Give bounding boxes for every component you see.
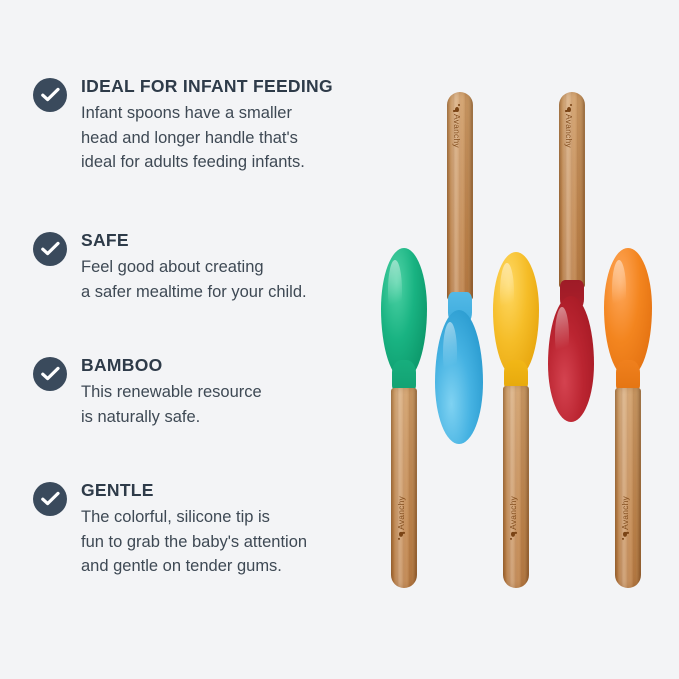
green-spoon-handle: [391, 388, 417, 588]
feature-text: IDEAL FOR INFANT FEEDING Infant spoons h…: [81, 76, 333, 175]
blue-spoon: Avanchy: [428, 92, 486, 444]
check-circle-icon: [33, 78, 67, 112]
feature-body-line: head and longer handle that's: [81, 126, 333, 151]
check-circle-icon: [33, 357, 67, 391]
feature-body-line: a safer mealtime for your child.: [81, 280, 307, 305]
feature-body-line: fun to grab the baby's attention: [81, 530, 307, 555]
orange-spoon-bowl: [604, 248, 652, 378]
orange-spoon-handle: [615, 388, 641, 588]
blue-spoon-bowl: [435, 310, 483, 444]
blue-spoon-handle: [447, 92, 473, 300]
green-spoon: Avanchy: [372, 248, 430, 588]
feature-body: Infant spoons have a smaller head and lo…: [81, 101, 333, 175]
red-spoon-bowl: [548, 296, 594, 422]
feature-item-gentle: GENTLE The colorful, silicone tip is fun…: [33, 480, 307, 579]
bowl-bulb: [435, 310, 483, 444]
feature-item-safe: SAFE Feel good about creating a safer me…: [33, 230, 307, 304]
feature-body-line: Infant spoons have a smaller: [81, 101, 333, 126]
feature-body-line: Feel good about creating: [81, 255, 307, 280]
feature-item-ideal-for-infant-feeding: IDEAL FOR INFANT FEEDING Infant spoons h…: [33, 76, 333, 175]
feature-text: GENTLE The colorful, silicone tip is fun…: [81, 480, 307, 579]
feature-item-bamboo: BAMBOO This renewable resource is natura…: [33, 355, 262, 429]
feature-body: Feel good about creating a safer mealtim…: [81, 255, 307, 304]
yellow-spoon: Avanchy: [484, 252, 542, 588]
yellow-spoon-handle: [503, 386, 529, 588]
feature-body-line: The colorful, silicone tip is: [81, 505, 307, 530]
bowl-bulb: [548, 296, 594, 422]
feature-body-line: ideal for adults feeding infants.: [81, 150, 333, 175]
check-circle-icon: [33, 232, 67, 266]
red-spoon-handle: [559, 92, 585, 288]
check-circle-icon: [33, 482, 67, 516]
feature-text: BAMBOO This renewable resource is natura…: [81, 355, 262, 429]
orange-spoon: Avanchy: [596, 248, 654, 588]
feature-title: SAFE: [81, 230, 307, 250]
bowl-bulb: [604, 248, 652, 378]
feature-body-line: and gentle on tender gums.: [81, 554, 307, 579]
feature-title: IDEAL FOR INFANT FEEDING: [81, 76, 333, 96]
feature-body: This renewable resource is naturally saf…: [81, 380, 262, 429]
red-spoon: Avanchy: [540, 92, 598, 422]
feature-body: The colorful, silicone tip is fun to gra…: [81, 505, 307, 579]
spoon-product-image: Avanchy Avanchy: [366, 0, 679, 679]
feature-body-line: This renewable resource: [81, 380, 262, 405]
feature-text: SAFE Feel good about creating a safer me…: [81, 230, 307, 304]
feature-title: BAMBOO: [81, 355, 262, 375]
feature-title: GENTLE: [81, 480, 307, 500]
feature-list: IDEAL FOR INFANT FEEDING Infant spoons h…: [0, 0, 392, 679]
feature-body-line: is naturally safe.: [81, 405, 262, 430]
product-infographic: IDEAL FOR INFANT FEEDING Infant spoons h…: [0, 0, 679, 679]
